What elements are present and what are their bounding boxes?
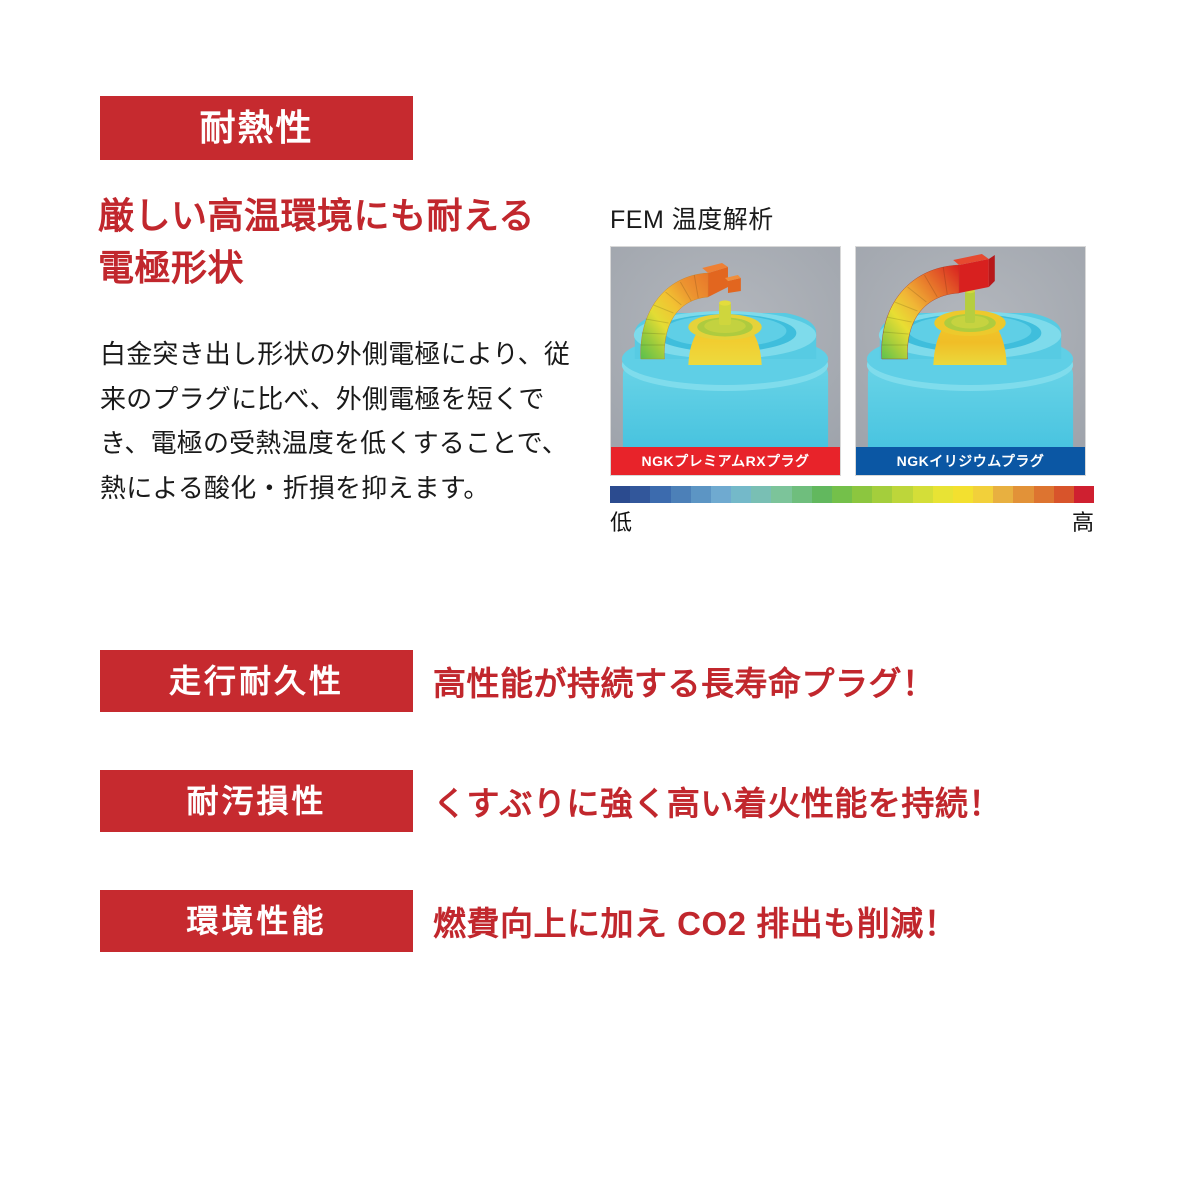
scale-swatch-14	[892, 486, 912, 503]
scale-swatch-0	[610, 486, 630, 503]
scale-swatch-11	[832, 486, 852, 503]
feature-badge-label: 耐汚損性	[186, 785, 326, 817]
scale-swatch-17	[953, 486, 973, 503]
scale-swatch-7	[751, 486, 771, 503]
fem-caption-premium-rx: NGKプレミアムRXプラグ	[611, 447, 840, 475]
feature-description: 高性能が持続する長寿命プラグ！	[433, 657, 936, 705]
temperature-scale: 低 高	[610, 486, 1094, 537]
scale-swatch-16	[933, 486, 953, 503]
badge-heat-resistance-label: 耐熱性	[199, 110, 313, 146]
scale-swatch-8	[771, 486, 791, 503]
feature-description: くすぶりに強く高い着火性能を持続！	[433, 777, 1002, 825]
fem-render-iridium	[856, 247, 1085, 447]
scale-swatch-9	[792, 486, 812, 503]
fem-render-premium-rx	[611, 247, 840, 447]
scale-swatch-18	[973, 486, 993, 503]
scale-swatch-3	[671, 486, 691, 503]
fem-title: FEM 温度解析	[610, 200, 1092, 236]
body-copy: 白金突き出し形状の外側電極により、従来のプラグに比べ、外側電極を短くでき、電極の…	[100, 332, 582, 511]
fem-caption-iridium: NGKイリジウムプラグ	[856, 447, 1085, 475]
scale-label-high: 高	[1072, 505, 1094, 537]
scale-swatch-5	[711, 486, 731, 503]
scale-swatch-15	[913, 486, 933, 503]
feature-badge-label: 環境性能	[186, 905, 326, 937]
fem-panel-list: NGKプレミアムRXプラグ	[610, 246, 1092, 476]
scale-swatch-12	[852, 486, 872, 503]
feature-row: 耐汚損性 くすぶりに強く高い着火性能を持続！	[100, 770, 1002, 832]
feature-row: 環境性能 燃費向上に加え CO2 排出も削減！	[100, 890, 957, 952]
promo-page: 耐熱性 厳しい高温環境にも耐える電極形状 白金突き出し形状の外側電極により、従来…	[0, 0, 1200, 1200]
fem-analysis-block: FEM 温度解析	[610, 200, 1092, 537]
badge-heat-resistance: 耐熱性	[100, 96, 413, 160]
scale-swatch-22	[1054, 486, 1074, 503]
scale-swatch-4	[691, 486, 711, 503]
scale-label-low: 低	[610, 505, 632, 537]
temperature-scale-labels: 低 高	[610, 505, 1094, 537]
feature-description: 燃費向上に加え CO2 排出も削減！	[433, 897, 957, 945]
scale-swatch-23	[1074, 486, 1094, 503]
feature-badge-environmental: 環境性能	[100, 890, 413, 952]
scale-swatch-6	[731, 486, 751, 503]
scale-swatch-2	[650, 486, 670, 503]
fem-panel-premium-rx: NGKプレミアムRXプラグ	[610, 246, 841, 476]
feature-badge-driving-durability: 走行耐久性	[100, 650, 413, 712]
scale-swatch-10	[812, 486, 832, 503]
feature-row: 走行耐久性 高性能が持続する長寿命プラグ！	[100, 650, 936, 712]
feature-badge-fouling-resistance: 耐汚損性	[100, 770, 413, 832]
scale-swatch-20	[1013, 486, 1033, 503]
scale-swatch-19	[993, 486, 1013, 503]
fem-panel-iridium: NGKイリジウムプラグ	[855, 246, 1086, 476]
feature-badge-label: 走行耐久性	[169, 665, 344, 697]
page-headline: 厳しい高温環境にも耐える電極形状	[98, 190, 568, 294]
scale-swatch-1	[630, 486, 650, 503]
scale-swatch-21	[1034, 486, 1054, 503]
scale-swatch-13	[872, 486, 892, 503]
temperature-scale-bar	[610, 486, 1094, 503]
